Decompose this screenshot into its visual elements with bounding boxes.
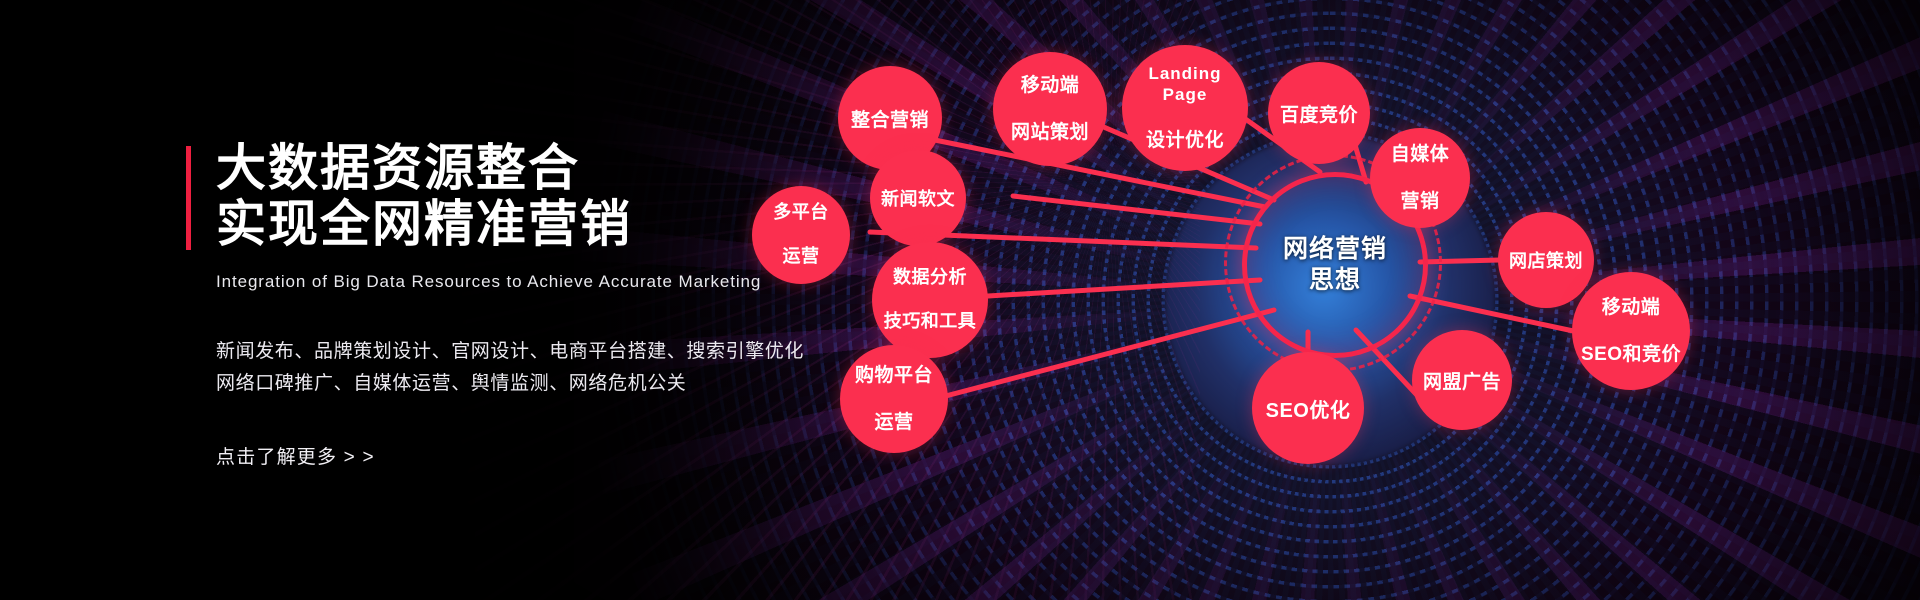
node-label-integrated-marketing: 整合营销 bbox=[845, 105, 935, 132]
node-label-self-media-marketing: 自媒体 营销 bbox=[1385, 143, 1456, 213]
hub-label-line-2: 思想 bbox=[1309, 266, 1361, 294]
learn-more-link[interactable]: 点击了解更多 > > bbox=[216, 442, 375, 469]
node-label-seo-optimization: SEO优化 bbox=[1260, 394, 1357, 423]
hub-label-line-1: 网络营销 bbox=[1283, 235, 1387, 263]
node-mobile-seo-bidding[interactable]: 移动端 SEO和竞价 bbox=[1572, 272, 1690, 390]
marketing-banner: 大数据资源整合 实现全网精准营销 Integration of Big Data… bbox=[0, 0, 1920, 600]
node-multi-platform-ops[interactable]: 多平台 运营 bbox=[752, 186, 850, 284]
node-self-media-marketing[interactable]: 自媒体 营销 bbox=[1370, 128, 1470, 228]
hub-label: 网络营销 思想 bbox=[1283, 234, 1387, 296]
node-online-store-planning[interactable]: 网店策划 bbox=[1498, 212, 1594, 308]
node-news-soft-article[interactable]: 新闻软文 bbox=[870, 150, 966, 246]
node-label-mobile-site-planning: 移动端 网站策划 bbox=[1005, 74, 1095, 144]
node-baidu-bidding[interactable]: 百度竞价 bbox=[1268, 62, 1370, 164]
node-label-shopping-platform-ops: 购物平台 运营 bbox=[849, 364, 939, 434]
node-seo-optimization[interactable]: SEO优化 bbox=[1252, 352, 1364, 464]
node-label-online-store-planning: 网店策划 bbox=[1503, 247, 1589, 273]
node-label-landing-page-design: Landing Page 设计优化 bbox=[1122, 64, 1248, 152]
headline-line-1: 大数据资源整合 bbox=[216, 140, 580, 196]
node-mobile-site-planning[interactable]: 移动端 网站策划 bbox=[993, 52, 1107, 166]
node-ad-network[interactable]: 网盟广告 bbox=[1412, 330, 1512, 430]
node-label-data-analysis-tools: 数据分析 技巧和工具 bbox=[878, 267, 983, 333]
connector-data-analysis-tools bbox=[988, 280, 1260, 296]
connector-shopping-platform-ops bbox=[938, 310, 1274, 398]
accent-bar bbox=[186, 146, 191, 250]
node-landing-page-design[interactable]: Landing Page 设计优化 bbox=[1122, 45, 1248, 171]
node-label-news-soft-article: 新闻软文 bbox=[875, 185, 961, 211]
node-label-mobile-seo-bidding: 移动端 SEO和竞价 bbox=[1575, 296, 1687, 366]
headline-line-2: 实现全网精准营销 bbox=[216, 196, 632, 252]
mindmap: 网络营销 思想 整合营销 移动端 网站策划 Landing Page 设计优化 … bbox=[760, 0, 1920, 600]
node-label-ad-network: 网盟广告 bbox=[1417, 367, 1507, 394]
node-label-baidu-bidding: 百度竞价 bbox=[1274, 100, 1364, 127]
node-shopping-platform-ops[interactable]: 购物平台 运营 bbox=[840, 345, 948, 453]
node-data-analysis-tools[interactable]: 数据分析 技巧和工具 bbox=[872, 242, 988, 358]
node-label-multi-platform-ops: 多平台 运营 bbox=[767, 202, 835, 268]
